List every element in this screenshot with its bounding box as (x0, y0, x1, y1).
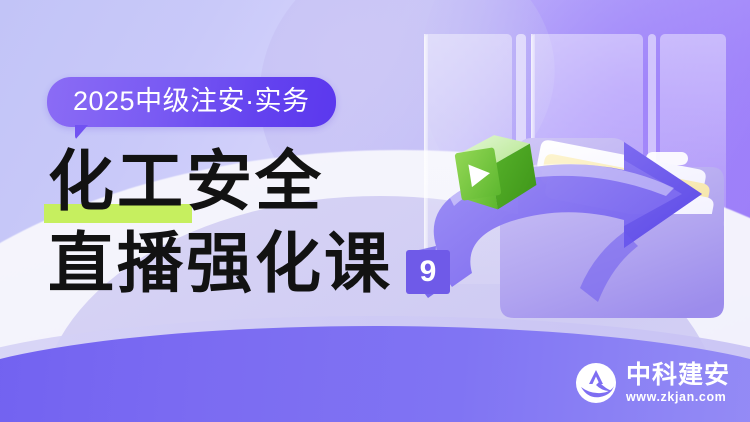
episode-number-badge: 9 (406, 250, 450, 294)
logo-website-url: www.zkjan.com (626, 391, 730, 404)
course-badge-tail (75, 125, 88, 140)
logo-mark-icon (575, 362, 617, 404)
course-badge-label: 2025中级注安·实务 (73, 88, 310, 115)
brand-logo: 中科建安 www.zkjan.com (575, 362, 730, 404)
title-text-primary: 化工安全 (48, 146, 324, 219)
title-line-one: 化工安全 (48, 150, 468, 216)
title-line-two: 直播强化课 9 (48, 232, 468, 298)
course-banner: 2025中级注安·实务 化工安全 直播强化课 9 中科建安 www.zkjan.… (0, 0, 750, 422)
title-text-secondary: 直播强化课 (48, 232, 393, 298)
title-block: 化工安全 直播强化课 9 (48, 150, 468, 298)
logo-company-name: 中科建安 (626, 362, 730, 388)
logo-text-block: 中科建安 www.zkjan.com (626, 362, 730, 404)
course-badge-pill: 2025中级注安·实务 (47, 77, 336, 127)
course-badge: 2025中级注安·实务 (47, 77, 336, 127)
